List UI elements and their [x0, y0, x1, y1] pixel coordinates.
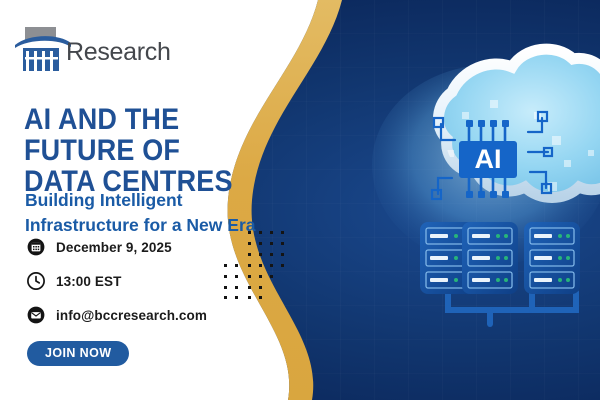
brand-logo-text: Research: [66, 38, 171, 67]
clock-icon: [27, 272, 45, 290]
envelope-icon: [27, 306, 45, 324]
brand-logo[interactable]: Research: [14, 26, 194, 72]
headline-line-1: AI AND THE FUTURE OF: [24, 103, 180, 167]
event-detail-email[interactable]: info@bccresearch.com: [27, 300, 277, 330]
decorative-dot-grid: [222, 229, 294, 301]
bcc-building-logo-icon: [14, 26, 72, 72]
join-now-button[interactable]: JOIN NOW: [27, 341, 129, 366]
calendar-icon: [27, 238, 45, 256]
left-content-panel: Research AI AND THE FUTURE OF DATA CENTR…: [0, 0, 300, 400]
event-email-text: info@bccresearch.com: [56, 308, 207, 323]
event-time-text: 13:00 EST: [56, 274, 121, 289]
webinar-promo-banner: AI: [0, 0, 600, 400]
page-title: AI AND THE FUTURE OF DATA CENTRES: [24, 104, 260, 197]
event-date-text: December 9, 2025: [56, 240, 172, 255]
subtitle-line-1: Building Intelligent: [25, 190, 182, 210]
